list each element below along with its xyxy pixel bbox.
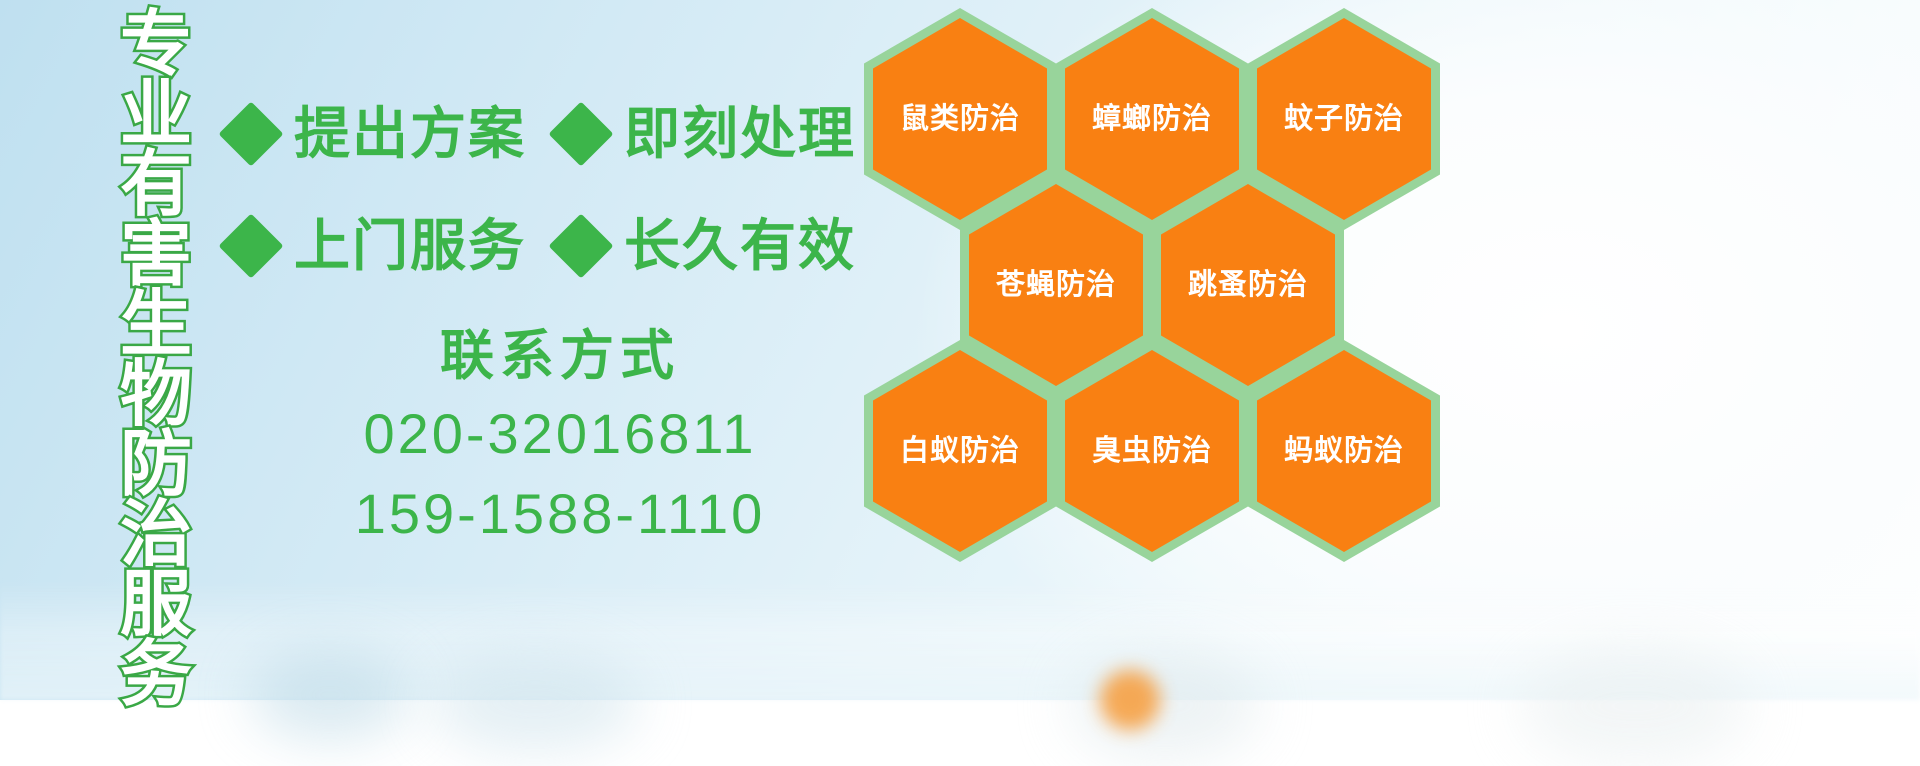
diamond-bullet-icon [218, 213, 283, 278]
feature-item-1: 即刻处理 [558, 106, 856, 162]
vertical-headline-char: 生 [120, 290, 192, 360]
feature-item-2: 上门服务 [228, 218, 558, 274]
hexagon-inner: 蟑螂防治 [1065, 18, 1239, 220]
contact-block: 联系方式 020-32016811 159-1588-1110 [300, 318, 820, 554]
phone-mobile[interactable]: 159-1588-1110 [300, 474, 820, 554]
hexagon-inner: 鼠类防治 [873, 18, 1047, 220]
vertical-headline-char: 物 [120, 360, 192, 430]
pest-control-banner: 专 业 有 害 生 物 防 治 服 务 提出方案 即刻处理 上门服务 [0, 0, 1920, 700]
background-blob [1520, 646, 1750, 766]
phone-landline[interactable]: 020-32016811 [300, 394, 820, 474]
background-blob [1070, 650, 1260, 760]
diamond-bullet-icon [548, 101, 613, 166]
service-honeycomb: 鼠类防治 蟑螂防治 蚊子防治 苍蝇防治 跳蚤防治 白蚁防治 [856, 0, 1456, 560]
hexagon-inner: 臭虫防治 [1065, 350, 1239, 552]
vertical-headline-char: 有 [120, 150, 192, 220]
background-blob-orange [1100, 670, 1160, 730]
feature-item-0: 提出方案 [228, 106, 558, 162]
diamond-bullet-icon [548, 213, 613, 278]
feature-label: 上门服务 [294, 218, 526, 274]
hexagon-inner: 蚊子防治 [1257, 18, 1431, 220]
background-blob [250, 650, 410, 740]
vertical-headline-char: 治 [120, 500, 192, 570]
diamond-bullet-icon [218, 101, 283, 166]
vertical-headline-char: 害 [120, 220, 192, 290]
feature-list: 提出方案 即刻处理 上门服务 长久有效 [228, 78, 868, 302]
service-label: 苍蝇防治 [996, 271, 1116, 300]
service-label: 蟑螂防治 [1092, 105, 1212, 134]
feature-label: 长久有效 [624, 218, 856, 274]
service-label: 蚂蚁防治 [1284, 437, 1404, 466]
service-label: 蚊子防治 [1284, 105, 1404, 134]
vertical-headline-char: 业 [120, 80, 192, 150]
feature-label: 提出方案 [294, 106, 526, 162]
feature-row: 提出方案 即刻处理 [228, 78, 868, 190]
hexagon-inner: 白蚁防治 [873, 350, 1047, 552]
feature-item-3: 长久有效 [558, 218, 856, 274]
hexagon-inner: 苍蝇防治 [969, 184, 1143, 386]
contact-title: 联系方式 [300, 318, 820, 394]
vertical-headline-char: 服 [120, 570, 192, 640]
vertical-headline: 专 业 有 害 生 物 防 治 服 务 [103, 10, 209, 570]
feature-row: 上门服务 长久有效 [228, 190, 868, 302]
vertical-headline-char: 防 [120, 430, 192, 500]
hexagon-inner: 蚂蚁防治 [1257, 350, 1431, 552]
vertical-headline-char: 专 [120, 10, 192, 80]
hexagon-inner: 跳蚤防治 [1161, 184, 1335, 386]
service-label: 白蚁防治 [900, 437, 1020, 466]
background-blob [430, 652, 640, 752]
feature-label: 即刻处理 [624, 106, 856, 162]
service-label: 臭虫防治 [1092, 437, 1212, 466]
service-label: 跳蚤防治 [1188, 271, 1308, 300]
service-label: 鼠类防治 [900, 105, 1020, 134]
